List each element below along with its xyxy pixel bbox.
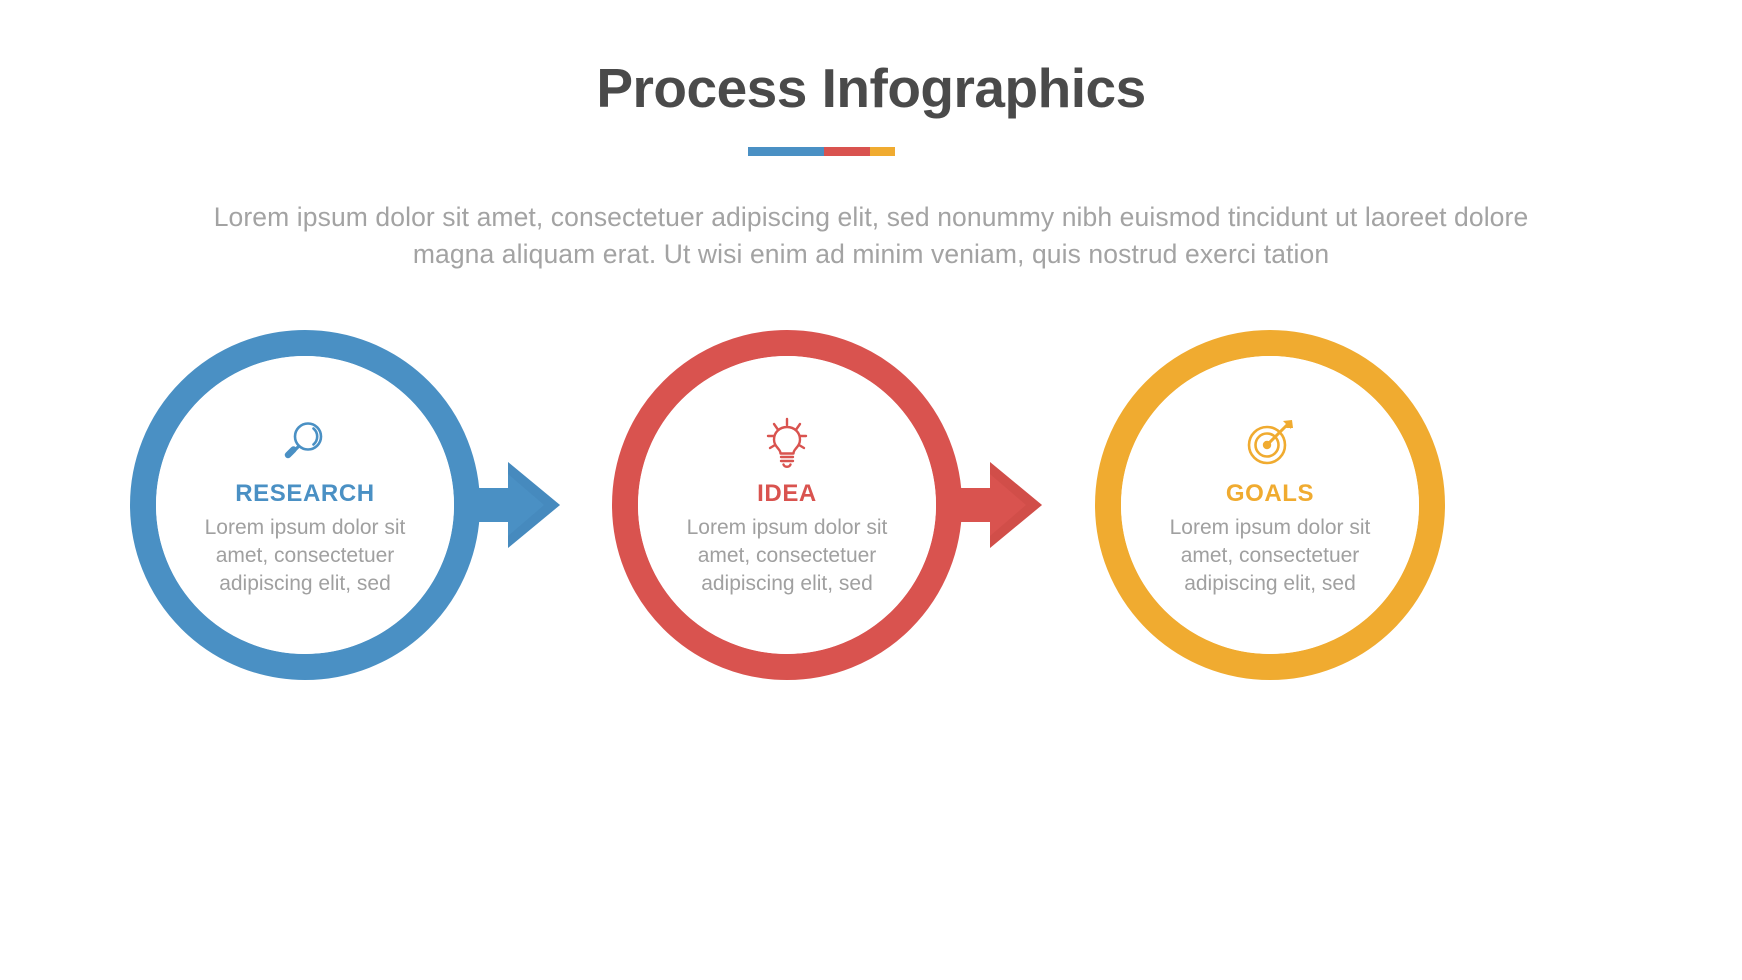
infographic-canvas: Process Infographics Lorem ipsum dolor s…	[0, 0, 1742, 980]
step-goals[interactable]: GOALS Lorem ipsum dolor sit amet, consec…	[1095, 330, 1445, 680]
underline-segment-red	[824, 147, 870, 156]
header: Process Infographics	[0, 0, 1742, 119]
arrow-connector-2	[938, 440, 1048, 570]
underline-segment-blue	[748, 147, 824, 156]
arrow-connector-1	[456, 440, 566, 570]
steps-row: RESEARCH Lorem ipsum dolor sit amet, con…	[0, 330, 1742, 710]
step-title-goals: GOALS	[1226, 482, 1314, 506]
magnifier-icon	[277, 414, 333, 472]
title-underline	[748, 147, 895, 156]
step-description-idea: Lorem ipsum dolor sit amet, consectetuer…	[662, 514, 912, 598]
page-title: Process Infographics	[0, 0, 1742, 119]
step-title-idea: IDEA	[757, 482, 817, 506]
step-research[interactable]: RESEARCH Lorem ipsum dolor sit amet, con…	[130, 330, 480, 680]
underline-segment-orange	[870, 147, 895, 156]
step-content-idea: IDEA Lorem ipsum dolor sit amet, consect…	[638, 356, 936, 654]
target-icon	[1242, 414, 1298, 472]
step-title-research: RESEARCH	[235, 482, 374, 506]
subtitle: Lorem ipsum dolor sit amet, consectetuer…	[211, 199, 1531, 273]
lightbulb-icon	[759, 414, 815, 472]
step-idea[interactable]: IDEA Lorem ipsum dolor sit amet, consect…	[612, 330, 962, 680]
step-description-goals: Lorem ipsum dolor sit amet, consectetuer…	[1145, 514, 1395, 598]
step-content-research: RESEARCH Lorem ipsum dolor sit amet, con…	[156, 356, 454, 654]
step-description-research: Lorem ipsum dolor sit amet, consectetuer…	[180, 514, 430, 598]
step-content-goals: GOALS Lorem ipsum dolor sit amet, consec…	[1121, 356, 1419, 654]
